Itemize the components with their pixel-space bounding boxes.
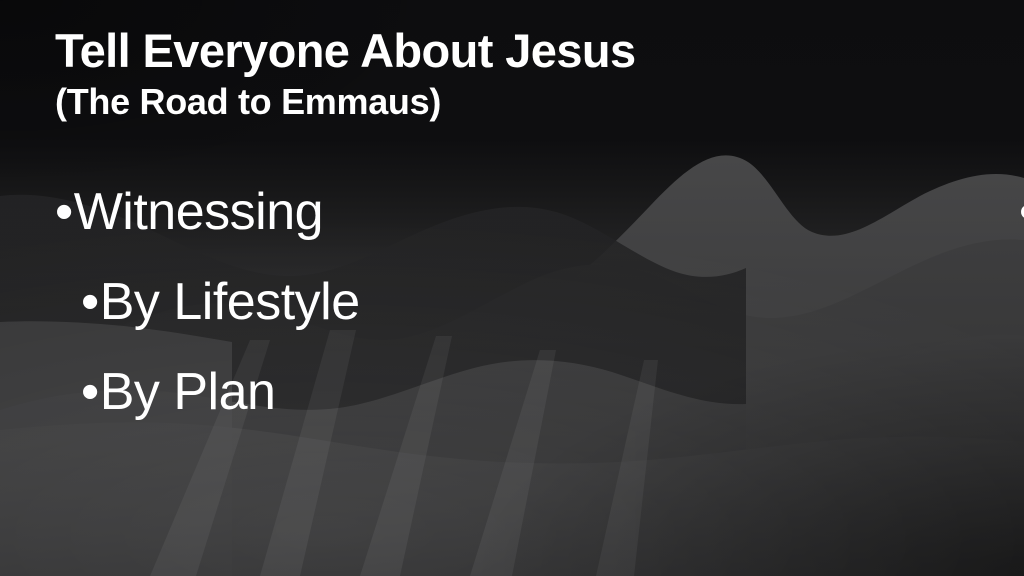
list-item-label: By Lifestyle xyxy=(100,276,360,328)
list-item: • Witnessing xyxy=(55,186,482,276)
page-title: Tell Everyone About Jesus xyxy=(55,24,636,79)
list-item: • Influence xyxy=(1019,186,1024,276)
list-item-label: Witnessing xyxy=(74,186,323,238)
list-item: • By Plan xyxy=(81,366,482,456)
right-column: • Influence • Reputation • Anointing xyxy=(482,186,1024,456)
presentation-slide: Tell Everyone About Jesus (The Road to E… xyxy=(0,0,1024,576)
list-item-label: By Plan xyxy=(100,366,276,418)
bullet-dot-icon: • xyxy=(1019,186,1024,238)
page-subtitle: (The Road to Emmaus) xyxy=(55,81,636,123)
list-item: • By Lifestyle xyxy=(81,276,482,366)
bullet-dot-icon: • xyxy=(81,276,99,328)
left-column: • Witnessing • By Lifestyle • By Plan xyxy=(0,186,482,456)
bullet-dot-icon: • xyxy=(81,366,99,418)
bullet-columns: • Witnessing • By Lifestyle • By Plan • … xyxy=(0,186,1024,456)
bullet-dot-icon: • xyxy=(55,186,73,238)
title-block: Tell Everyone About Jesus (The Road to E… xyxy=(55,24,636,123)
